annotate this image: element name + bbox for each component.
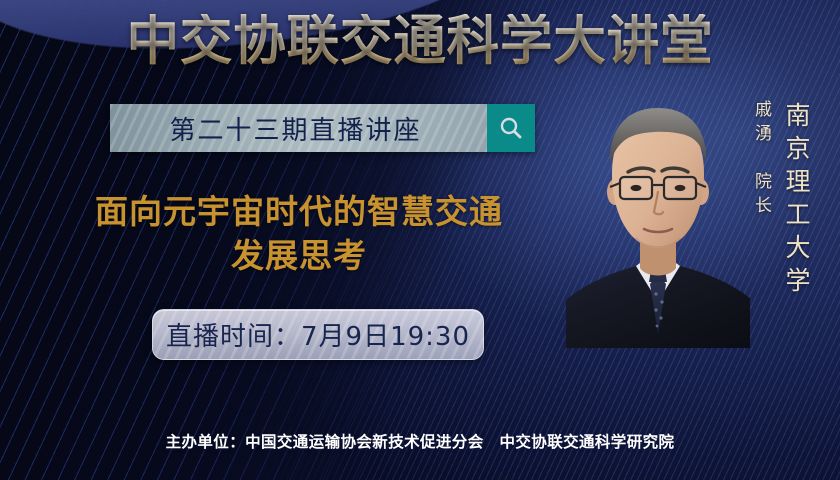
episode-banner-label: 第二十三期直播讲座 bbox=[169, 110, 427, 147]
headline-line-2: 发展思考 bbox=[44, 234, 554, 278]
episode-banner: 第二十三期直播讲座 bbox=[110, 104, 535, 152]
search-icon-glyph bbox=[498, 115, 524, 141]
speaker-portrait-image bbox=[566, 88, 750, 348]
speaker-organization: 南京理工大学 bbox=[778, 102, 814, 300]
lecture-headline: 面向元宇宙时代的智慧交通 发展思考 bbox=[44, 190, 554, 277]
broadcast-time-text: 直播时间：7月9日19:30 bbox=[166, 316, 470, 353]
page-title: 中交协联交通科学大讲堂 bbox=[13, 14, 828, 68]
live-broadcast-poster: 中交协联交通科学大讲堂 第二十三期直播讲座 面向元宇宙时代的智慧交通 发展思考 … bbox=[0, 0, 840, 480]
headline-line-1: 面向元宇宙时代的智慧交通 bbox=[44, 190, 554, 234]
search-icon[interactable] bbox=[487, 104, 535, 152]
episode-banner-body: 第二十三期直播讲座 bbox=[110, 104, 487, 152]
organizers-text: 主办单位：中国交通运输协会新技术促进分会 中交协联交通科学研究院 bbox=[0, 430, 840, 452]
broadcast-time-badge: 直播时间：7月9日19:30 bbox=[152, 309, 484, 360]
speaker-name-title: 戚湧 院长 bbox=[749, 100, 774, 220]
speaker-portrait bbox=[566, 88, 750, 348]
